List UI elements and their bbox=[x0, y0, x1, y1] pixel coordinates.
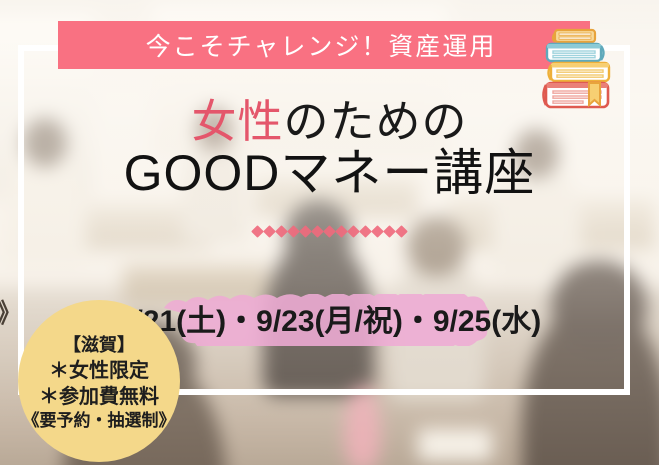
diamond-dot-icon bbox=[347, 225, 360, 238]
diamond-dot-icon bbox=[395, 225, 408, 238]
headline-banner: 今こそチャレンジ！資産運用 bbox=[58, 21, 590, 69]
diamond-dot-icon bbox=[371, 225, 384, 238]
info-badge-line-women-only: ＊女性限定 bbox=[49, 358, 149, 384]
main-title-line-2: GOODマネー講座 bbox=[0, 145, 659, 201]
diamond-dot-icon bbox=[263, 225, 276, 238]
diamond-divider bbox=[0, 227, 659, 236]
diamond-dot-icon bbox=[251, 225, 264, 238]
main-title-line-1-rest: のための bbox=[284, 96, 468, 147]
main-title-line-1: 女性のための bbox=[0, 98, 659, 147]
diamond-dot-icon bbox=[299, 225, 312, 238]
info-badge-line-free: ＊参加費無料 bbox=[39, 384, 159, 410]
headline-banner-text: 今こそチャレンジ！資産運用 bbox=[146, 27, 497, 63]
diamond-dot-icon bbox=[335, 225, 348, 238]
diamond-dot-icon bbox=[275, 225, 288, 238]
main-title-accent-word: 女性 bbox=[191, 96, 283, 147]
main-title: 女性のための GOODマネー講座 bbox=[0, 98, 659, 201]
diamond-dot-icon bbox=[323, 225, 336, 238]
info-badge-line-region: 【滋賀】 bbox=[63, 334, 135, 357]
diamond-dot-icon bbox=[359, 225, 372, 238]
info-badge: 【滋賀】 ＊女性限定 ＊参加費無料 《要予約・抽選制》 bbox=[18, 300, 180, 462]
event-flyer: 》 今こそチャレンジ！資産運用 bbox=[0, 0, 659, 465]
diamond-dot-icon bbox=[311, 225, 324, 238]
info-badge-line-reservation: 《要予約・抽選制》 bbox=[23, 410, 176, 432]
diamond-dot-icon bbox=[287, 225, 300, 238]
diamond-dot-icon bbox=[383, 225, 396, 238]
